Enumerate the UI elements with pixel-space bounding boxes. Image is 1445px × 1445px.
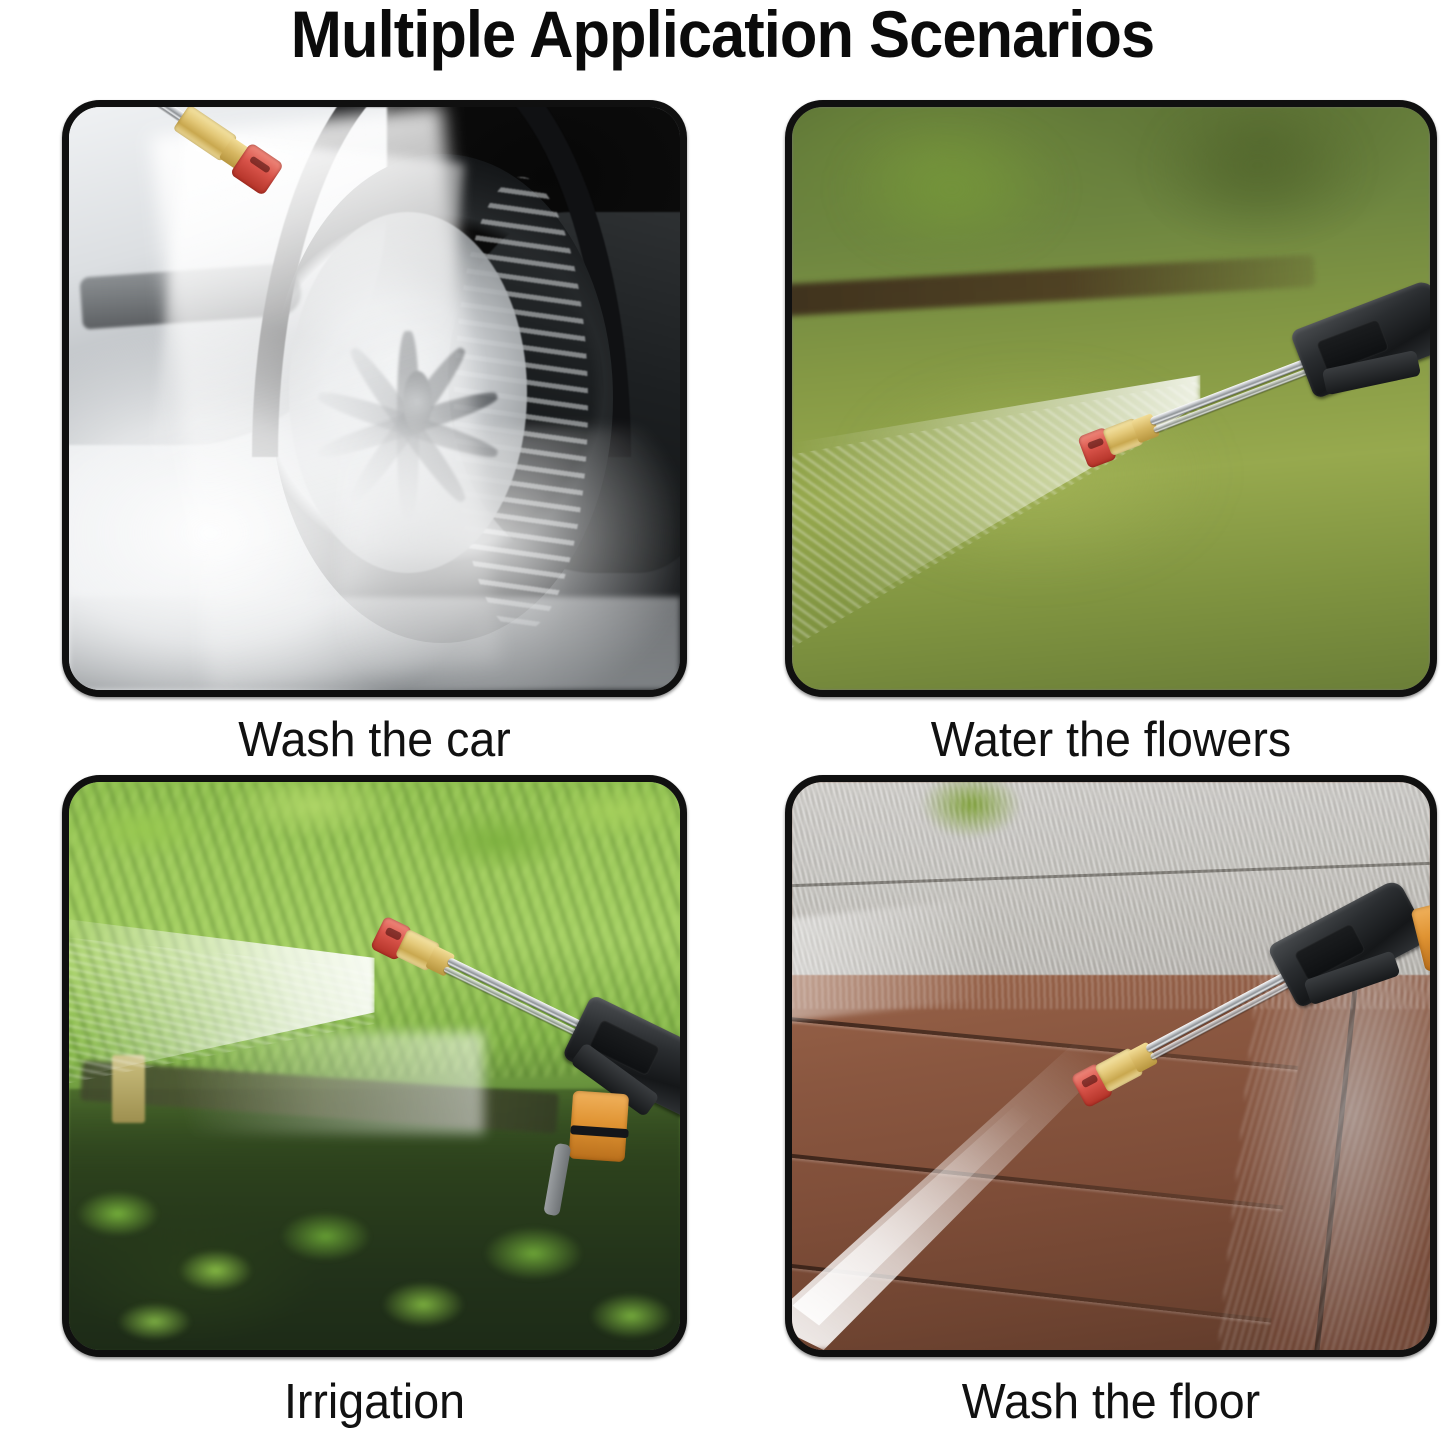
scenario-image-water-the-flowers: [785, 100, 1437, 697]
garden-watering-scene: [792, 107, 1430, 690]
car-wash-scene: [69, 107, 680, 690]
scenario-caption: Water the flowers: [801, 709, 1420, 771]
scenario-card-irrigation[interactable]: Irrigation: [62, 775, 687, 1433]
garden-foliage-blur: [843, 119, 1060, 259]
nozzle-wand-lower: [443, 966, 580, 1037]
scenario-grid: Wash the car: [0, 0, 1445, 1445]
scenario-image-wash-the-car: [62, 100, 687, 697]
scenario-image-irrigation: [62, 775, 687, 1357]
garden-hose: [543, 1143, 571, 1217]
scenario-caption: Wash the car: [78, 709, 672, 771]
irrigation-scene: [69, 782, 680, 1350]
scenario-card-wash-the-car[interactable]: Wash the car: [62, 100, 687, 771]
floor-washing-scene: [792, 782, 1430, 1350]
nozzle-wand-lower: [1152, 367, 1311, 433]
scenario-caption: Irrigation: [78, 1371, 672, 1433]
hose-connector: [1435, 305, 1437, 375]
scenario-caption: Wash the floor: [801, 1371, 1420, 1433]
scenario-card-wash-the-floor[interactable]: Wash the floor: [785, 775, 1437, 1433]
scenario-card-water-the-flowers[interactable]: Water the flowers: [785, 100, 1437, 771]
scenario-image-wash-the-floor: [785, 775, 1437, 1357]
garden-foliage-blur: [1162, 107, 1353, 224]
